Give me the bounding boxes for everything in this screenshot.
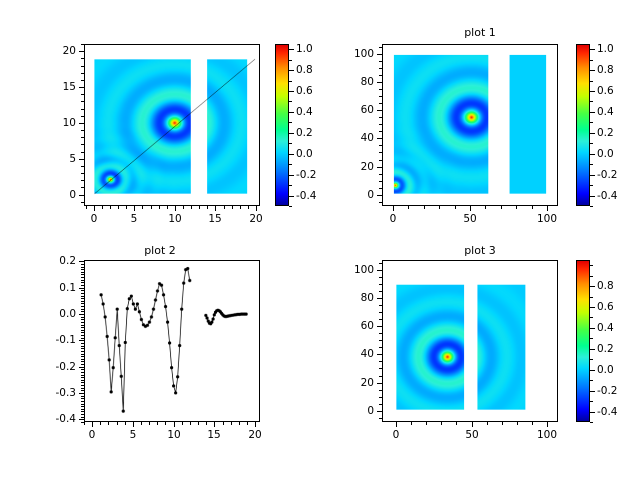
x-axis-minor-tick xyxy=(159,206,160,209)
y-axis-major-tick xyxy=(377,326,382,327)
y-axis-minor-tick xyxy=(81,327,84,328)
y-axis-minor-tick xyxy=(81,335,84,336)
y-axis-minor-tick xyxy=(379,160,382,161)
y-axis-major-tick xyxy=(377,383,382,384)
x-axis-major-tick xyxy=(134,206,135,211)
y-axis-minor-tick xyxy=(379,263,382,264)
y-axis-minor-tick xyxy=(81,293,84,294)
y-axis-major-tick xyxy=(377,138,382,139)
y-axis-tick-label: 0.2 xyxy=(0,255,76,267)
y-axis-minor-tick xyxy=(81,272,84,273)
x-axis-minor-tick xyxy=(532,206,533,209)
y-axis-minor-tick xyxy=(81,380,84,381)
x-axis-minor-tick xyxy=(182,422,183,425)
y-axis-minor-tick xyxy=(81,173,84,174)
x-axis-tick-label: 0 xyxy=(91,213,98,225)
y-axis-minor-tick xyxy=(379,96,382,97)
x-axis-minor-tick xyxy=(100,422,101,425)
x-axis-major-tick xyxy=(174,422,175,427)
y-axis-minor-tick xyxy=(379,404,382,405)
x-axis-tick-label: 0 xyxy=(390,213,397,225)
y-axis-minor-tick xyxy=(379,347,382,348)
x-axis-minor-tick xyxy=(117,422,118,425)
y-axis-minor-tick xyxy=(81,303,84,304)
colorbar-major-tick xyxy=(590,196,595,197)
y-axis-minor-tick xyxy=(379,312,382,313)
colorbar-major-tick xyxy=(590,49,595,50)
y-axis-major-tick xyxy=(79,367,84,368)
y-axis-minor-tick xyxy=(81,66,84,67)
x-axis-major-tick xyxy=(472,422,473,427)
colorbar-tick-label: 0.6 xyxy=(597,85,614,97)
colorbar-minor-tick xyxy=(590,276,593,277)
y-axis-tick-label: 0 xyxy=(0,189,76,201)
y-axis-minor-tick xyxy=(379,368,382,369)
y-axis-minor-tick xyxy=(81,296,84,297)
x-axis-minor-tick xyxy=(487,422,488,425)
y-axis-minor-tick xyxy=(81,390,84,391)
plot-1-colorbar[interactable] xyxy=(576,44,590,206)
y-axis-minor-tick xyxy=(81,130,84,131)
y-axis-minor-tick xyxy=(81,417,84,418)
y-axis-minor-tick xyxy=(81,356,84,357)
colorbar-tick-label: 0.8 xyxy=(597,280,614,292)
y-axis-major-tick xyxy=(79,195,84,196)
y-axis-major-tick xyxy=(79,419,84,420)
y-axis-minor-tick xyxy=(379,319,382,320)
figure-canvas: 0510152005101520-0.4-0.20.00.20.40.60.81… xyxy=(0,0,640,480)
plot-1-title: plot 1 xyxy=(320,26,640,39)
colorbar-major-tick xyxy=(289,133,294,134)
y-axis-minor-tick xyxy=(81,280,84,281)
y-axis-minor-tick xyxy=(379,131,382,132)
y-axis-minor-tick xyxy=(81,354,84,355)
y-axis-tick-label: -0.3 xyxy=(0,387,76,399)
colorbar-minor-tick xyxy=(590,338,593,339)
x-axis-minor-tick xyxy=(86,206,87,209)
y-axis-major-tick xyxy=(377,110,382,111)
y-axis-tick-label: 15 xyxy=(0,81,76,93)
y-axis-major-tick xyxy=(79,123,84,124)
colorbar-minor-tick xyxy=(590,380,593,381)
x-axis-minor-tick xyxy=(199,206,200,209)
colorbar-minor-tick xyxy=(590,143,593,144)
y-axis-minor-tick xyxy=(81,411,84,412)
x-axis-tick-label: 20 xyxy=(248,429,261,441)
x-axis-minor-tick xyxy=(516,206,517,209)
y-axis-minor-tick xyxy=(81,298,84,299)
y-axis-tick-label: 80 xyxy=(320,292,374,304)
x-axis-tick-label: 15 xyxy=(207,429,220,441)
colorbar-major-tick xyxy=(289,91,294,92)
y-axis-minor-tick xyxy=(81,382,84,383)
y-axis-minor-tick xyxy=(81,385,84,386)
y-axis-minor-tick xyxy=(81,409,84,410)
x-axis-tick-label: 0 xyxy=(393,429,400,441)
y-axis-minor-tick xyxy=(379,47,382,48)
panel-bottom-left: plot 2 05101520-0.4-0.3-0.2-0.10.00.10.2 xyxy=(0,240,320,480)
colorbar-major-tick xyxy=(590,175,595,176)
colorbar-minor-tick xyxy=(289,101,292,102)
y-axis-minor-tick xyxy=(81,285,84,286)
y-axis-tick-label: 100 xyxy=(320,264,374,276)
plot-0-axes[interactable] xyxy=(84,44,260,206)
y-axis-minor-tick xyxy=(379,333,382,334)
colorbar-tick-label: 1.0 xyxy=(597,43,614,55)
y-axis-tick-label: 20 xyxy=(0,45,76,57)
x-axis-major-tick xyxy=(393,206,394,211)
y-axis-minor-tick xyxy=(81,406,84,407)
colorbar-tick-label: 0.4 xyxy=(597,106,614,118)
colorbar-major-tick xyxy=(590,349,595,350)
x-axis-minor-tick xyxy=(125,422,126,425)
colorbar-major-tick xyxy=(289,154,294,155)
y-axis-minor-tick xyxy=(81,348,84,349)
x-axis-tick-label: 100 xyxy=(537,429,557,441)
x-axis-minor-tick xyxy=(231,422,232,425)
x-axis-minor-tick xyxy=(517,422,518,425)
x-axis-major-tick xyxy=(547,422,548,427)
colorbar-tick-label: -0.4 xyxy=(296,190,317,202)
y-axis-minor-tick xyxy=(81,330,84,331)
y-axis-major-tick xyxy=(79,261,84,262)
colorbar-major-tick xyxy=(590,412,595,413)
plot-0-colorbar[interactable] xyxy=(275,44,289,206)
y-axis-minor-tick xyxy=(81,422,84,423)
colorbar-minor-tick xyxy=(590,359,593,360)
colorbar-minor-tick xyxy=(590,422,593,423)
colorbar-tick-label: -0.4 xyxy=(597,406,618,418)
y-axis-minor-tick xyxy=(379,202,382,203)
x-axis-tick-label: 10 xyxy=(168,213,181,225)
panel-bottom-right: plot 3 050100020406080100-0.4-0.20.00.20… xyxy=(320,240,640,480)
colorbar-major-tick xyxy=(289,112,294,113)
y-axis-minor-tick xyxy=(81,301,84,302)
x-axis-minor-tick xyxy=(191,206,192,209)
y-axis-major-tick xyxy=(79,314,84,315)
y-axis-minor-tick xyxy=(81,267,84,268)
x-axis-major-tick xyxy=(255,422,256,427)
x-axis-tick-label: 10 xyxy=(167,429,180,441)
y-axis-minor-tick xyxy=(81,166,84,167)
x-axis-minor-tick xyxy=(183,206,184,209)
x-axis-minor-tick xyxy=(501,206,502,209)
x-axis-minor-tick xyxy=(151,206,152,209)
plot-3-colorbar-gradient xyxy=(577,261,589,421)
y-axis-minor-tick xyxy=(81,290,84,291)
plot-3-title: plot 3 xyxy=(320,244,640,257)
y-axis-minor-tick xyxy=(379,89,382,90)
colorbar-tick-label: 0.6 xyxy=(597,301,614,313)
plot-3-heatmap xyxy=(383,261,557,421)
y-axis-tick-label: 0 xyxy=(320,405,374,417)
colorbar-major-tick xyxy=(590,286,595,287)
x-axis-minor-tick xyxy=(157,422,158,425)
x-axis-minor-tick xyxy=(223,422,224,425)
x-axis-minor-tick xyxy=(502,422,503,425)
colorbar-tick-label: 0.0 xyxy=(597,148,614,160)
x-axis-minor-tick xyxy=(206,422,207,425)
y-axis-minor-tick xyxy=(81,332,84,333)
x-axis-minor-tick xyxy=(426,422,427,425)
x-axis-minor-tick xyxy=(485,206,486,209)
y-axis-minor-tick xyxy=(81,58,84,59)
y-axis-major-tick xyxy=(377,167,382,168)
y-axis-minor-tick xyxy=(81,73,84,74)
colorbar-major-tick xyxy=(590,154,595,155)
y-axis-minor-tick xyxy=(81,361,84,362)
plot-1-colorbar-gradient xyxy=(577,45,589,205)
x-axis-minor-tick xyxy=(240,206,241,209)
y-axis-minor-tick xyxy=(81,372,84,373)
y-axis-minor-tick xyxy=(81,338,84,339)
colorbar-major-tick xyxy=(590,391,595,392)
colorbar-tick-label: 0.6 xyxy=(296,85,313,97)
y-axis-minor-tick xyxy=(81,343,84,344)
colorbar-tick-label: 0.2 xyxy=(597,343,614,355)
y-axis-minor-tick xyxy=(81,269,84,270)
y-axis-major-tick xyxy=(377,298,382,299)
colorbar-tick-label: -0.2 xyxy=(296,169,317,181)
x-axis-minor-tick xyxy=(126,206,127,209)
y-axis-minor-tick xyxy=(379,124,382,125)
y-axis-minor-tick xyxy=(81,414,84,415)
y-axis-minor-tick xyxy=(81,309,84,310)
y-axis-tick-label: 40 xyxy=(320,132,374,144)
y-axis-minor-tick xyxy=(379,61,382,62)
y-axis-minor-tick xyxy=(379,117,382,118)
y-axis-major-tick xyxy=(79,87,84,88)
x-axis-tick-label: 50 xyxy=(465,429,478,441)
y-axis-minor-tick xyxy=(379,376,382,377)
y-axis-tick-label: 20 xyxy=(320,161,374,173)
x-axis-tick-label: 100 xyxy=(537,213,557,225)
y-axis-minor-tick xyxy=(81,346,84,347)
y-axis-major-tick xyxy=(79,340,84,341)
colorbar-major-tick xyxy=(590,370,595,371)
x-axis-minor-tick xyxy=(102,206,103,209)
x-axis-minor-tick xyxy=(248,206,249,209)
colorbar-major-tick xyxy=(590,91,595,92)
colorbar-tick-label: 1.0 xyxy=(296,43,313,55)
x-axis-minor-tick xyxy=(224,206,225,209)
y-axis-major-tick xyxy=(377,195,382,196)
x-axis-major-tick xyxy=(133,422,134,427)
x-axis-minor-tick xyxy=(441,422,442,425)
x-axis-minor-tick xyxy=(439,206,440,209)
colorbar-major-tick xyxy=(590,307,595,308)
colorbar-major-tick xyxy=(289,49,294,50)
colorbar-minor-tick xyxy=(590,81,593,82)
y-axis-tick-label: 60 xyxy=(320,104,374,116)
x-axis-minor-tick xyxy=(455,206,456,209)
x-axis-major-tick xyxy=(94,206,95,211)
y-axis-tick-label: 100 xyxy=(320,48,374,60)
y-axis-major-tick xyxy=(377,54,382,55)
y-axis-minor-tick xyxy=(379,291,382,292)
y-axis-tick-label: 0.1 xyxy=(0,282,76,294)
y-axis-tick-label: -0.2 xyxy=(0,361,76,373)
y-axis-minor-tick xyxy=(81,282,84,283)
y-axis-minor-tick xyxy=(81,277,84,278)
y-axis-major-tick xyxy=(79,393,84,394)
y-axis-minor-tick xyxy=(81,322,84,323)
colorbar-minor-tick xyxy=(590,164,593,165)
y-axis-minor-tick xyxy=(81,317,84,318)
colorbar-minor-tick xyxy=(590,265,593,266)
y-axis-tick-label: -0.1 xyxy=(0,334,76,346)
colorbar-tick-label: 0.4 xyxy=(296,106,313,118)
y-axis-minor-tick xyxy=(379,75,382,76)
panel-top-right: plot 1 050100020406080100-0.4-0.20.00.20… xyxy=(320,0,640,240)
colorbar-major-tick xyxy=(590,70,595,71)
y-axis-minor-tick xyxy=(379,361,382,362)
y-axis-minor-tick xyxy=(379,174,382,175)
x-axis-minor-tick xyxy=(84,422,85,425)
colorbar-tick-label: -0.2 xyxy=(597,385,618,397)
y-axis-major-tick xyxy=(377,270,382,271)
y-axis-major-tick xyxy=(377,82,382,83)
y-axis-minor-tick xyxy=(81,388,84,389)
colorbar-major-tick xyxy=(590,328,595,329)
colorbar-minor-tick xyxy=(590,297,593,298)
x-axis-minor-tick xyxy=(456,422,457,425)
plot-3-colorbar[interactable] xyxy=(576,260,590,422)
y-axis-minor-tick xyxy=(379,305,382,306)
plot-2-axes[interactable] xyxy=(84,260,260,422)
y-axis-tick-label: 5 xyxy=(0,153,76,165)
x-axis-minor-tick xyxy=(232,206,233,209)
x-axis-minor-tick xyxy=(408,206,409,209)
y-axis-minor-tick xyxy=(379,277,382,278)
y-axis-minor-tick xyxy=(379,103,382,104)
x-axis-minor-tick xyxy=(141,422,142,425)
plot-0-heatmap xyxy=(85,45,259,205)
colorbar-minor-tick xyxy=(590,122,593,123)
x-axis-major-tick xyxy=(547,206,548,211)
y-axis-minor-tick xyxy=(81,401,84,402)
x-axis-tick-label: 20 xyxy=(249,213,262,225)
y-axis-minor-tick xyxy=(379,418,382,419)
y-axis-minor-tick xyxy=(81,306,84,307)
y-axis-minor-tick xyxy=(379,397,382,398)
y-axis-minor-tick xyxy=(81,325,84,326)
colorbar-major-tick xyxy=(289,196,294,197)
x-axis-minor-tick xyxy=(190,422,191,425)
y-axis-tick-label: 20 xyxy=(320,377,374,389)
y-axis-minor-tick xyxy=(81,137,84,138)
colorbar-tick-label: 0.0 xyxy=(296,148,313,160)
x-axis-tick-label: 0 xyxy=(89,429,96,441)
y-axis-minor-tick xyxy=(81,202,84,203)
x-axis-minor-tick xyxy=(532,422,533,425)
plot-0-colorbar-gradient xyxy=(276,45,288,205)
y-axis-minor-tick xyxy=(81,80,84,81)
colorbar-minor-tick xyxy=(590,206,593,207)
x-axis-major-tick xyxy=(396,422,397,427)
colorbar-minor-tick xyxy=(289,185,292,186)
colorbar-tick-label: 0.2 xyxy=(597,127,614,139)
colorbar-tick-label: -0.4 xyxy=(597,190,618,202)
colorbar-major-tick xyxy=(590,112,595,113)
x-axis-major-tick xyxy=(470,206,471,211)
colorbar-tick-label: -0.2 xyxy=(597,169,618,181)
x-axis-minor-tick xyxy=(142,206,143,209)
y-axis-minor-tick xyxy=(81,101,84,102)
x-axis-tick-label: 15 xyxy=(208,213,221,225)
y-axis-minor-tick xyxy=(81,377,84,378)
colorbar-minor-tick xyxy=(590,401,593,402)
y-axis-major-tick xyxy=(377,411,382,412)
y-axis-minor-tick xyxy=(81,144,84,145)
colorbar-tick-label: 0.8 xyxy=(597,64,614,76)
x-axis-major-tick xyxy=(256,206,257,211)
colorbar-major-tick xyxy=(289,175,294,176)
y-axis-major-tick xyxy=(79,288,84,289)
y-axis-tick-label: 60 xyxy=(320,320,374,332)
x-axis-minor-tick xyxy=(239,422,240,425)
y-axis-minor-tick xyxy=(81,396,84,397)
colorbar-minor-tick xyxy=(289,60,292,61)
x-axis-minor-tick xyxy=(165,422,166,425)
y-axis-minor-tick xyxy=(81,264,84,265)
x-axis-minor-tick xyxy=(424,206,425,209)
plot-3-axes[interactable] xyxy=(382,260,558,422)
y-axis-minor-tick xyxy=(81,116,84,117)
y-axis-minor-tick xyxy=(81,311,84,312)
colorbar-minor-tick xyxy=(590,185,593,186)
x-axis-tick-label: 5 xyxy=(130,429,137,441)
plot-1-axes[interactable] xyxy=(382,44,558,206)
y-axis-minor-tick xyxy=(81,359,84,360)
y-axis-minor-tick xyxy=(81,398,84,399)
x-axis-minor-tick xyxy=(207,206,208,209)
colorbar-minor-tick xyxy=(590,317,593,318)
y-axis-minor-tick xyxy=(81,274,84,275)
y-axis-minor-tick xyxy=(81,187,84,188)
y-axis-minor-tick xyxy=(379,390,382,391)
y-axis-tick-label: 0.0 xyxy=(0,308,76,320)
colorbar-minor-tick xyxy=(289,164,292,165)
y-axis-minor-tick xyxy=(81,404,84,405)
x-axis-tick-label: 5 xyxy=(131,213,138,225)
panel-top-left: 0510152005101520-0.4-0.20.00.20.40.60.81… xyxy=(0,0,320,240)
y-axis-minor-tick xyxy=(379,340,382,341)
colorbar-minor-tick xyxy=(289,122,292,123)
y-axis-minor-tick xyxy=(379,152,382,153)
y-axis-minor-tick xyxy=(81,152,84,153)
y-axis-major-tick xyxy=(377,354,382,355)
y-axis-minor-tick xyxy=(81,180,84,181)
x-axis-minor-tick xyxy=(247,422,248,425)
y-axis-minor-tick xyxy=(379,181,382,182)
x-axis-minor-tick xyxy=(198,422,199,425)
y-axis-tick-label: 80 xyxy=(320,76,374,88)
x-axis-major-tick xyxy=(92,422,93,427)
colorbar-minor-tick xyxy=(289,206,292,207)
x-axis-minor-tick xyxy=(411,422,412,425)
colorbar-tick-label: 0.4 xyxy=(597,322,614,334)
x-axis-minor-tick xyxy=(118,206,119,209)
y-axis-minor-tick xyxy=(379,68,382,69)
x-axis-major-tick xyxy=(175,206,176,211)
plot-1-heatmap xyxy=(383,45,557,205)
x-axis-minor-tick xyxy=(167,206,168,209)
y-axis-minor-tick xyxy=(81,375,84,376)
y-axis-minor-tick xyxy=(379,284,382,285)
colorbar-major-tick xyxy=(289,70,294,71)
colorbar-tick-label: 0.0 xyxy=(597,364,614,376)
